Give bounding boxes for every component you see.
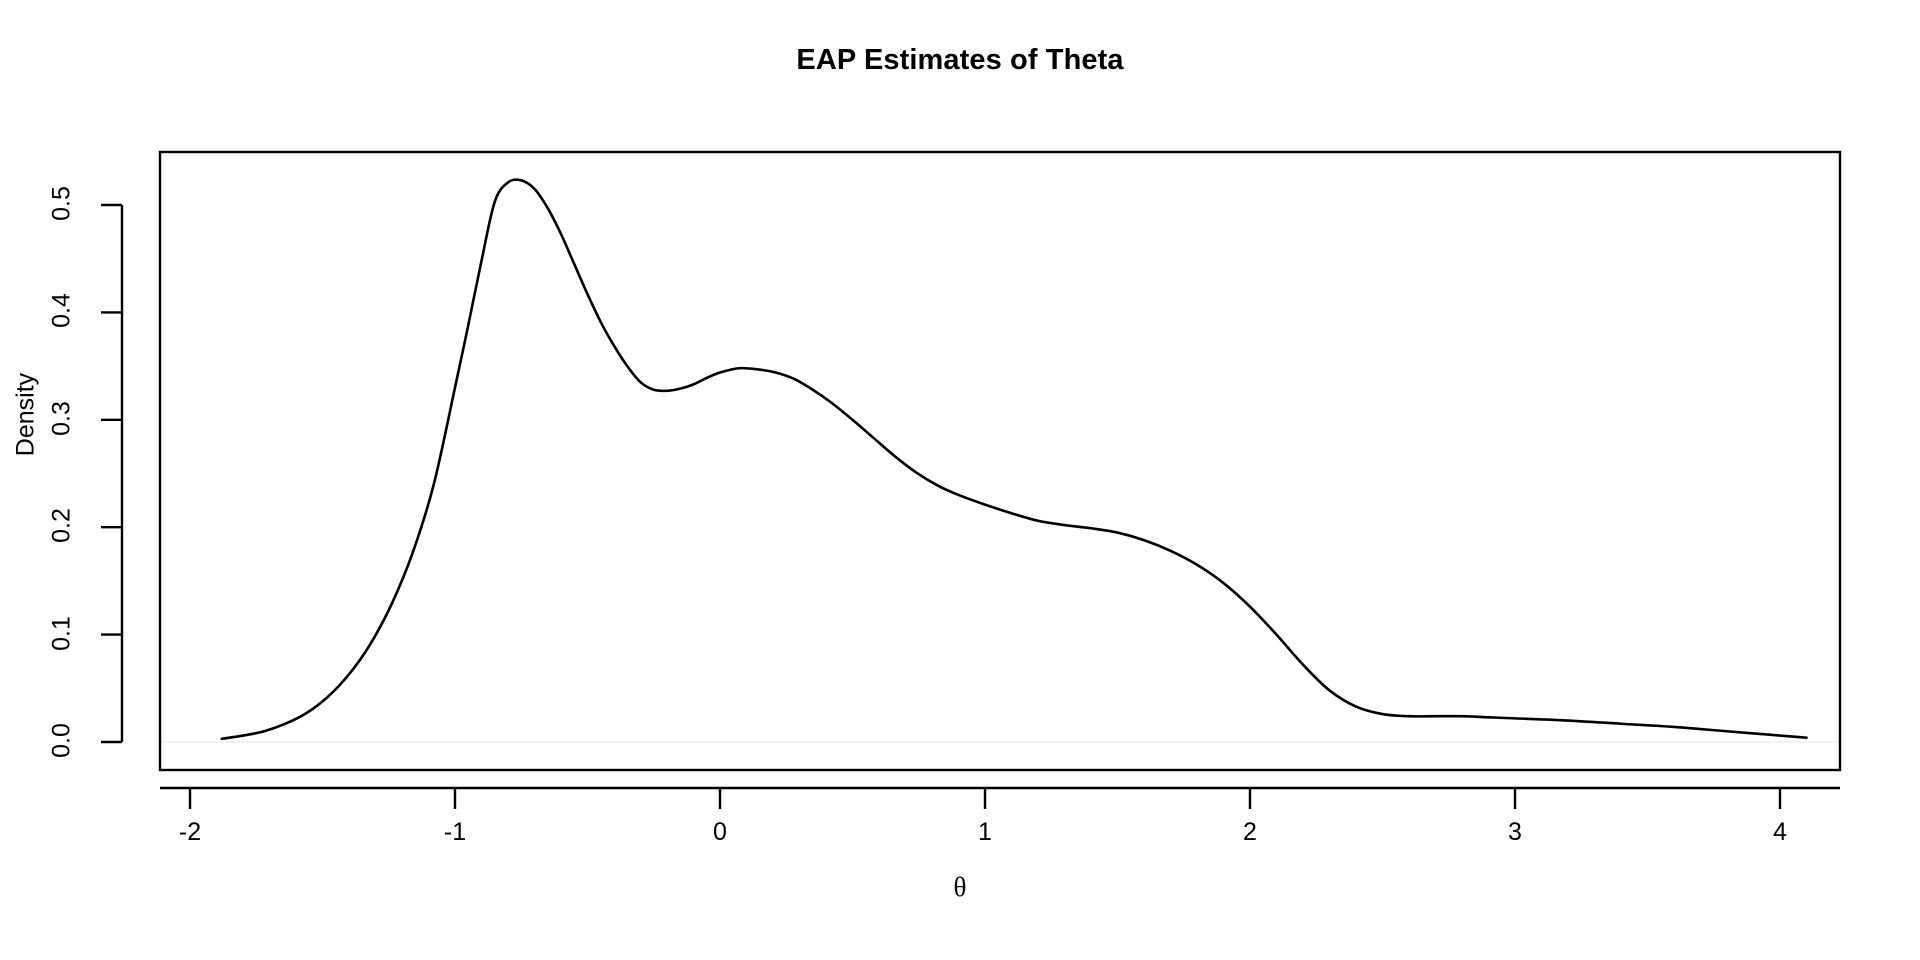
density-curve xyxy=(222,180,1807,739)
x-tick-label: 3 xyxy=(1475,818,1555,847)
x-tick-label: -2 xyxy=(150,818,230,847)
y-tick-label: 0.1 xyxy=(48,593,77,673)
y-axis-ticks xyxy=(101,205,122,742)
plot-canvas xyxy=(0,0,1920,960)
x-axis-ticks xyxy=(190,788,1780,809)
y-tick-label: 0.5 xyxy=(48,164,77,244)
x-tick-label: 2 xyxy=(1210,818,1290,847)
y-tick-label: 0.2 xyxy=(48,486,77,566)
plot-frame xyxy=(160,152,1840,770)
density-plot-figure: EAP Estimates of Theta Density θ -2-1012… xyxy=(0,0,1920,960)
x-tick-label: 4 xyxy=(1740,818,1820,847)
x-tick-label: -1 xyxy=(415,818,495,847)
y-tick-label: 0.3 xyxy=(48,378,77,458)
y-tick-label: 0.4 xyxy=(48,271,77,351)
y-tick-label: 0.0 xyxy=(48,701,77,781)
x-tick-label: 1 xyxy=(945,818,1025,847)
x-tick-label: 0 xyxy=(680,818,760,847)
